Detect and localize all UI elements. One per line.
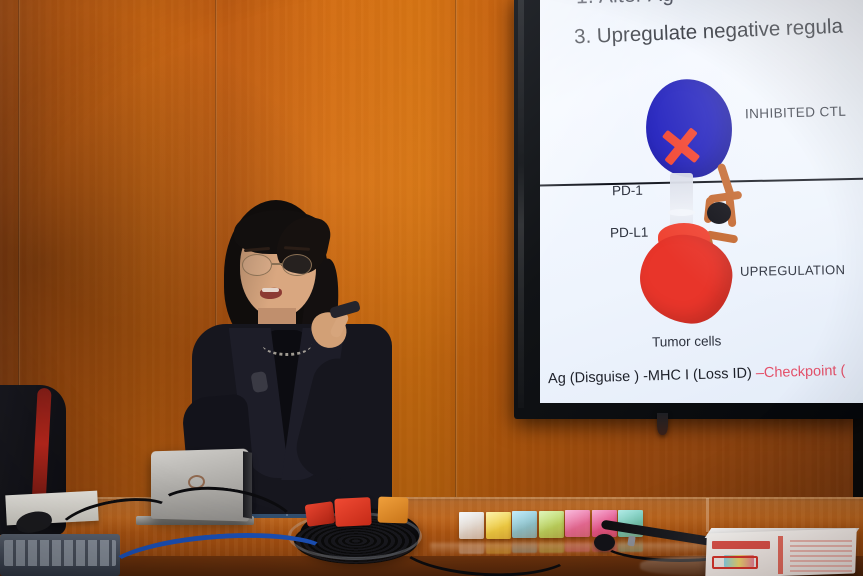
tumor-cell-shape <box>636 231 735 327</box>
label-inhibited-ctl: INHIBITED CTL <box>745 104 847 122</box>
colored-cube[interactable] <box>512 511 537 538</box>
product-box-grid <box>790 538 852 572</box>
colored-cube[interactable] <box>459 512 484 539</box>
presentation-photo: 1. Alter Ag 3. Upregulate negative regul… <box>0 0 863 576</box>
cube-highlight <box>486 512 511 539</box>
receptor-junction <box>668 209 695 216</box>
slide-divider-line <box>540 177 863 186</box>
product-box-outline <box>712 556 758 569</box>
cube-reflection <box>565 537 590 552</box>
presentation-display[interactable]: 1. Alter Ag 3. Upregulate negative regul… <box>514 0 863 419</box>
footer-text-black: Ag (Disguise ) -MHC I (Loss ID) <box>548 365 756 387</box>
cube-reflection <box>486 539 511 554</box>
glasses-bridge <box>272 263 282 265</box>
product-box-stripe <box>778 536 783 574</box>
teeth <box>262 288 279 292</box>
slide-screen: 1. Alter Ag 3. Upregulate negative regul… <box>540 0 863 403</box>
product-box-red-bar <box>712 541 770 549</box>
footer-text-red: –Checkpoint ( <box>756 363 846 381</box>
colored-cube[interactable] <box>486 512 511 539</box>
label-pdl1: PD-L1 <box>610 225 649 241</box>
orange-block[interactable] <box>378 496 409 523</box>
microphone-head <box>594 534 615 551</box>
necklace <box>262 332 312 356</box>
red-block[interactable] <box>305 501 336 527</box>
cube-reflection <box>459 539 484 554</box>
bezel-highlight <box>518 0 524 408</box>
cube-highlight <box>512 511 537 538</box>
ligand-dot-icon <box>707 202 731 224</box>
display-wall-mount <box>657 413 668 435</box>
lapel-microphone <box>250 371 268 393</box>
colored-cube[interactable] <box>565 510 590 537</box>
wall-slot <box>706 498 709 532</box>
slide-previous-heading: 1. Alter Ag <box>576 0 675 9</box>
cube-highlight <box>539 511 564 538</box>
cube-highlight <box>459 512 484 539</box>
label-pd1: PD-1 <box>612 183 643 199</box>
label-tumor-cells: Tumor cells <box>652 333 722 349</box>
cube-highlight <box>565 510 590 537</box>
lens-right <box>282 254 312 276</box>
label-upregulation: UPREGULATION <box>740 262 845 279</box>
lens-left <box>242 254 272 276</box>
slide-footer-line: Ag (Disguise ) -MHC I (Loss ID) –Checkpo… <box>548 363 846 387</box>
slide-heading: 3. Upregulate negative regula <box>574 15 844 50</box>
colored-cube[interactable] <box>539 511 564 538</box>
cube-reflection <box>512 538 537 553</box>
eyeglasses <box>242 254 316 276</box>
cube-reflection <box>539 538 564 553</box>
red-x-icon <box>658 123 704 169</box>
red-block[interactable] <box>334 497 371 527</box>
